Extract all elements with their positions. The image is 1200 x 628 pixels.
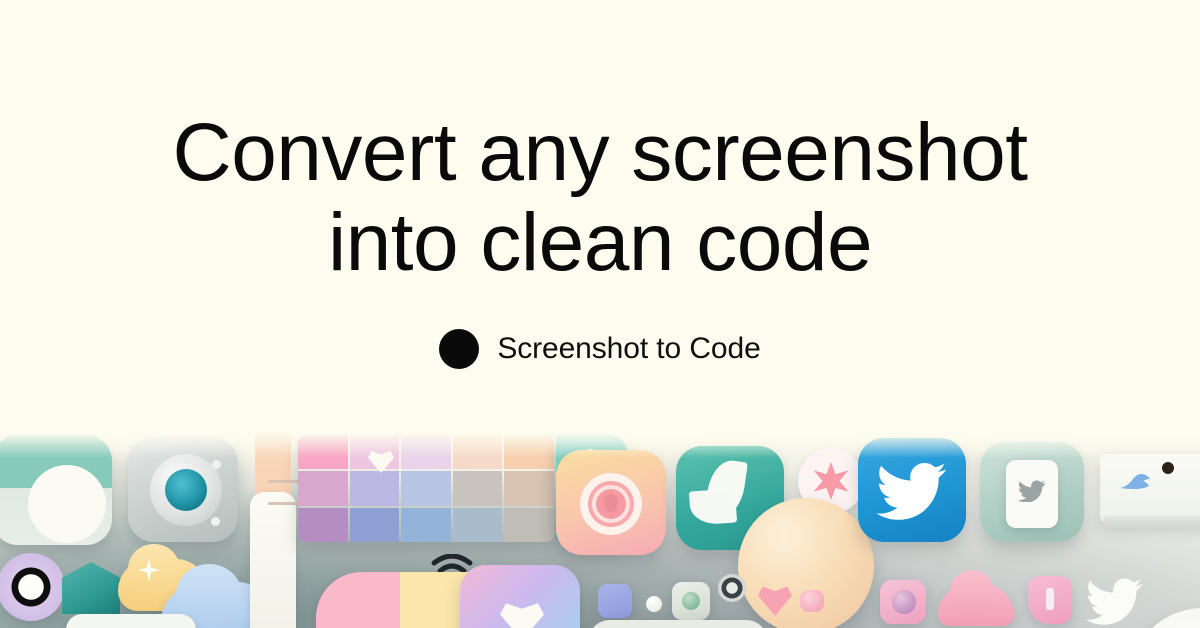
twitter-bird-icon-gray xyxy=(1018,480,1046,502)
camera-dot-bottom xyxy=(211,517,220,526)
cloud-pink-puff xyxy=(950,570,994,612)
white-bead-icon xyxy=(646,596,662,612)
lavender-ring-icon xyxy=(0,553,65,621)
card-base xyxy=(1104,516,1200,528)
filled-circle-logo-icon xyxy=(439,329,479,369)
green-square-dot xyxy=(682,592,700,610)
pink-bead-icon xyxy=(800,590,824,612)
blue-square-icon xyxy=(598,584,632,618)
camera-dot-top xyxy=(212,460,221,469)
dark-ring-icon xyxy=(718,574,746,602)
twitter-app-icon xyxy=(858,438,966,542)
color-swatch-grid xyxy=(298,435,554,542)
headline-line-1: Convert any screenshot xyxy=(0,108,1200,198)
twitter-bird-icon xyxy=(876,462,948,520)
pink-square-inner xyxy=(892,590,916,614)
brand-name: Screenshot to Code xyxy=(497,332,760,366)
card-dot xyxy=(1162,462,1174,474)
headline-line-2: into clean code xyxy=(0,198,1200,288)
bird-icon-blue xyxy=(1118,470,1154,496)
illustration-strip xyxy=(0,432,1200,628)
white-card-left xyxy=(66,614,196,628)
envelope-icon xyxy=(62,562,120,614)
mint-app-disc xyxy=(28,465,106,543)
twitter-bird-icon-white xyxy=(1086,578,1144,626)
pink-badge-glyph xyxy=(1046,588,1054,610)
white-bar xyxy=(250,492,296,628)
brand-row: Screenshot to Code xyxy=(0,329,1200,369)
page-title: Convert any screenshot into clean code xyxy=(0,0,1200,288)
camera-lens xyxy=(165,469,207,511)
white-box-center xyxy=(588,620,768,628)
og-card: Convert any screenshot into clean code S… xyxy=(0,0,1200,628)
hero-text-block: Convert any screenshot into clean code S… xyxy=(0,0,1200,369)
